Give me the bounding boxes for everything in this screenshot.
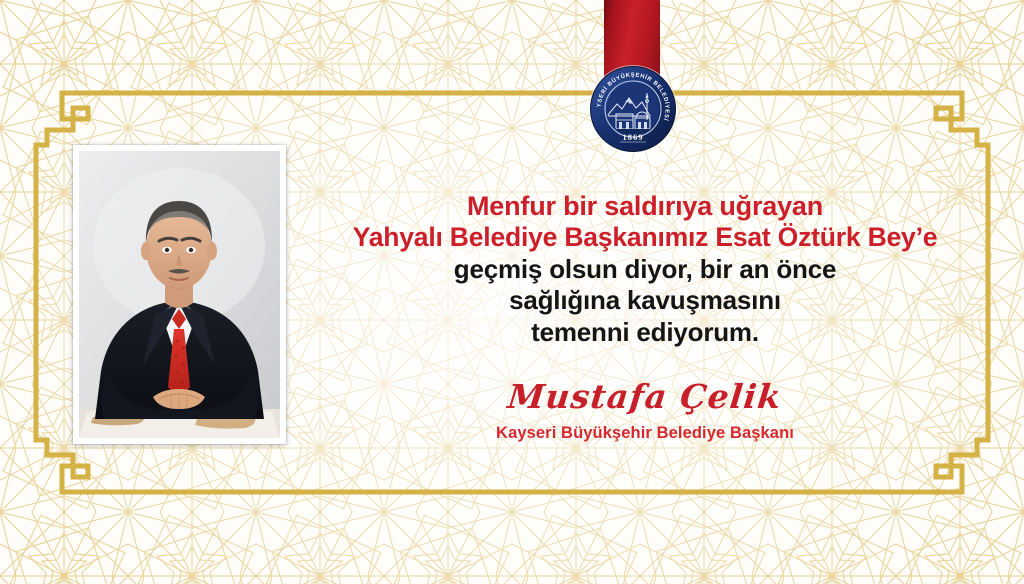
announcement-card: KAYSERİ BÜYÜKŞEHİR BELEDİYESİ 1869 xyxy=(0,0,1024,584)
portrait-photo xyxy=(79,151,280,438)
message-line-2: Yahyalı Belediye Başkanımız Esat Öztürk … xyxy=(300,222,990,254)
signature-block: Mustafa Çelik Kayseri Büyükşehir Belediy… xyxy=(300,380,990,443)
kayseri-municipality-seal-logo: KAYSERİ BÜYÜKŞEHİR BELEDİYESİ 1869 xyxy=(588,64,678,154)
message-line-5: temenni ediyorum. xyxy=(300,317,990,348)
message-line-3: geçmiş olsun diyor, bir an önce xyxy=(300,254,990,285)
signature-name: Mustafa Çelik xyxy=(506,380,783,413)
message-line-1: Menfur bir saldırıya uğrayan xyxy=(300,190,990,222)
seal-year: 1869 xyxy=(623,132,644,142)
message-line-4: sağlığına kavuşmasını xyxy=(300,285,990,316)
portrait-photo-frame xyxy=(73,145,286,444)
signature-title: Kayseri Büyükşehir Belediye Başkanı xyxy=(300,424,990,443)
message-block: Menfur bir saldırıya uğrayan Yahyalı Bel… xyxy=(300,190,990,348)
